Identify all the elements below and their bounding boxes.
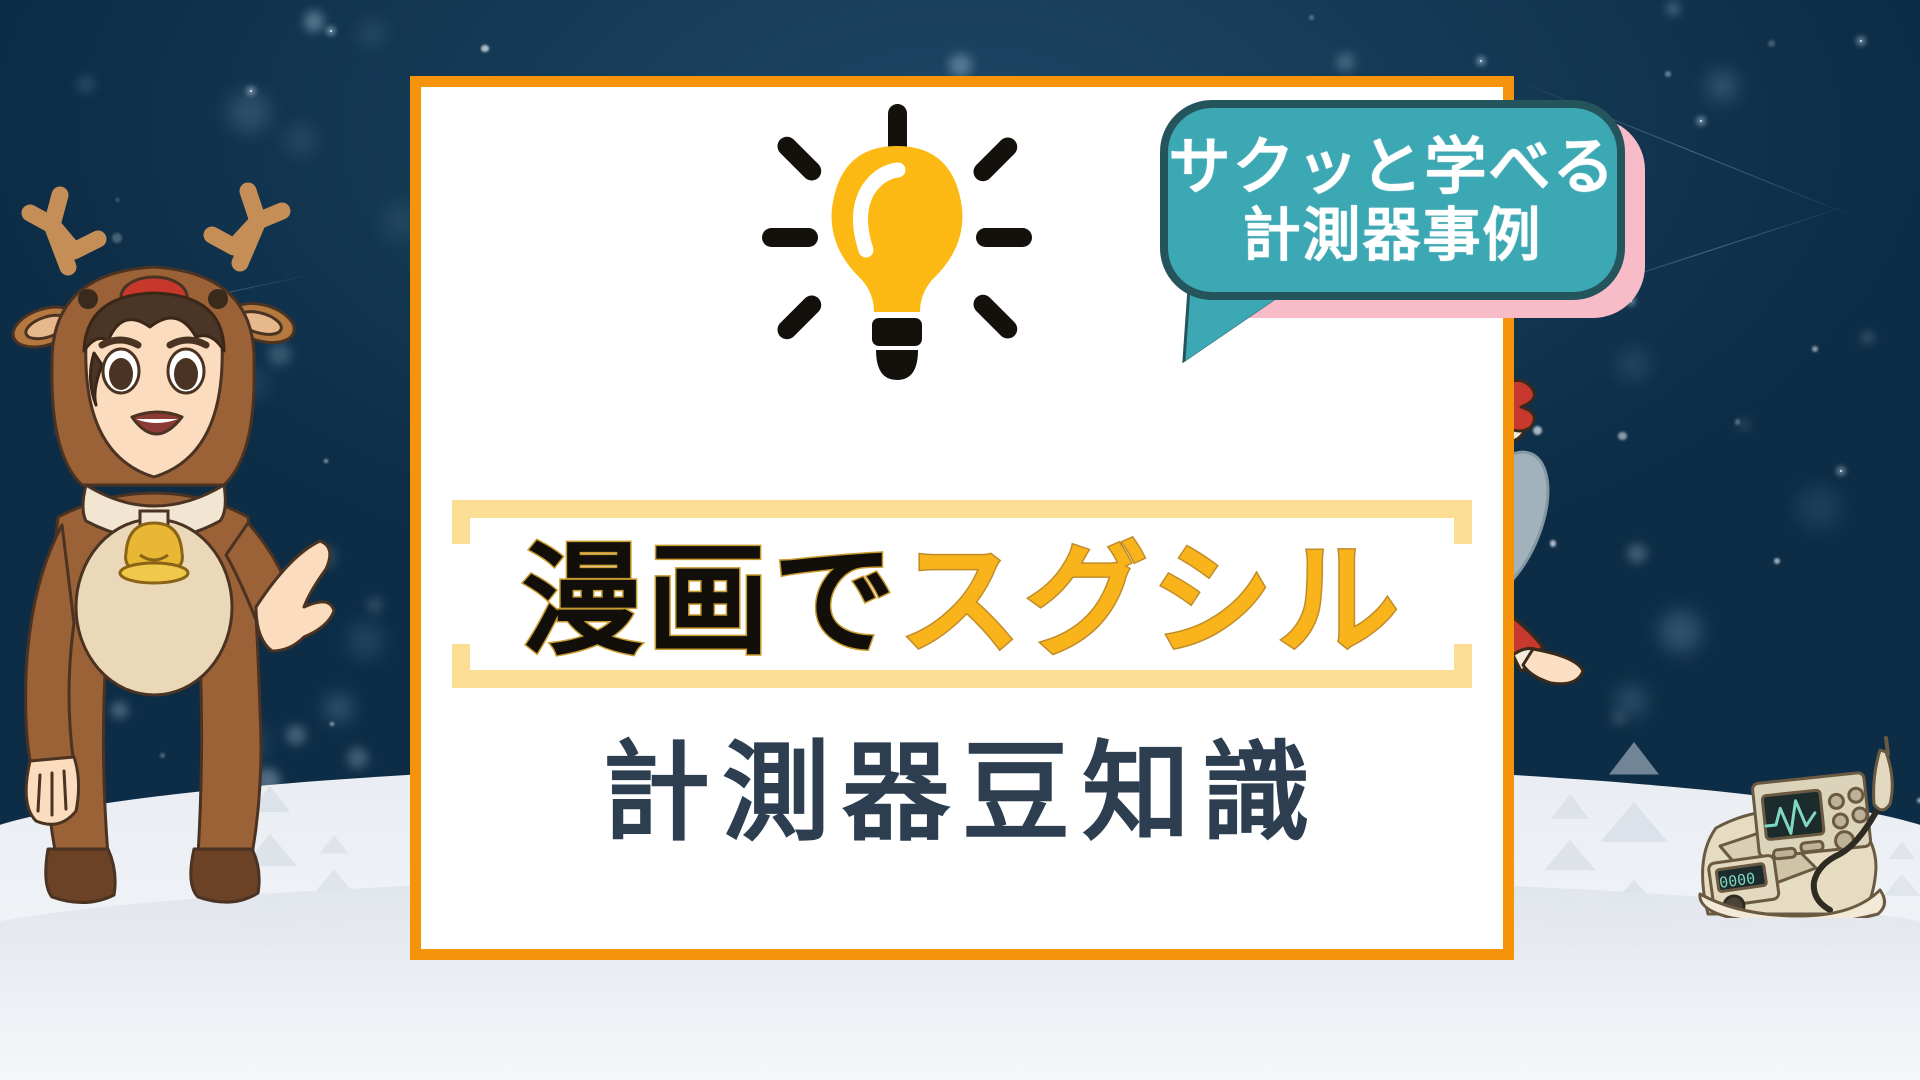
snowflake: [347, 747, 368, 768]
title-part-yellow: スグシル: [899, 540, 1403, 662]
snowflake: [347, 622, 384, 659]
sparkle: [1480, 60, 1482, 62]
bulb-ray-tl: [774, 133, 826, 185]
sparkle: [330, 30, 332, 32]
reindeer-boy-character: [0, 155, 335, 915]
title-part-black: 漫画で: [521, 540, 899, 662]
sparkle: [250, 90, 252, 92]
lightbulb-icon: [762, 104, 1032, 384]
snowflake: [1707, 71, 1737, 101]
title-bar-bottom-left-cap: [452, 644, 470, 670]
bulb-ray-br: [970, 291, 1022, 343]
title-bar-bottom-right-cap: [1454, 644, 1472, 670]
subtitle: 計測器豆知識: [452, 740, 1472, 848]
snowflake: [1627, 544, 1646, 563]
measuring-instrument-sack: 0000: [1690, 718, 1918, 918]
snowflake: [360, 21, 384, 45]
bulb-neck: [872, 318, 922, 346]
snowflake: [481, 45, 488, 52]
bulb-base: [876, 350, 918, 380]
snowflake: [228, 91, 270, 133]
snowflake: [1735, 419, 1740, 424]
bulb-ray-right: [976, 228, 1032, 247]
poster-canvas: 0000: [0, 0, 1920, 1080]
snowflake: [949, 54, 971, 76]
snowflake: [1618, 432, 1627, 441]
title-block: 漫画で スグシル: [452, 500, 1472, 700]
sparkle: [1860, 40, 1862, 42]
snowflake: [1774, 558, 1780, 564]
snowflake: [77, 76, 94, 93]
snowflake: [1768, 40, 1775, 47]
sparkle: [1700, 120, 1702, 122]
snowflake: [367, 597, 383, 613]
snowflake: [1665, 71, 1671, 77]
badge-line-2: 計測器事例: [1242, 206, 1542, 264]
badge-speech-bubble[interactable]: サクッと学べる 計測器事例: [1160, 100, 1625, 300]
badge-line-1: サクッと学べる: [1168, 136, 1616, 198]
snowflake: [1336, 53, 1354, 71]
title-bar-top: [452, 500, 1472, 518]
bulb-ray-tr: [970, 134, 1022, 186]
bulb-ray-left: [762, 228, 818, 247]
title-row: 漫画で スグシル: [452, 538, 1472, 664]
title-bar-bottom: [452, 670, 1472, 688]
sparkle: [1840, 470, 1842, 472]
bulb-ray-bl: [774, 292, 826, 344]
